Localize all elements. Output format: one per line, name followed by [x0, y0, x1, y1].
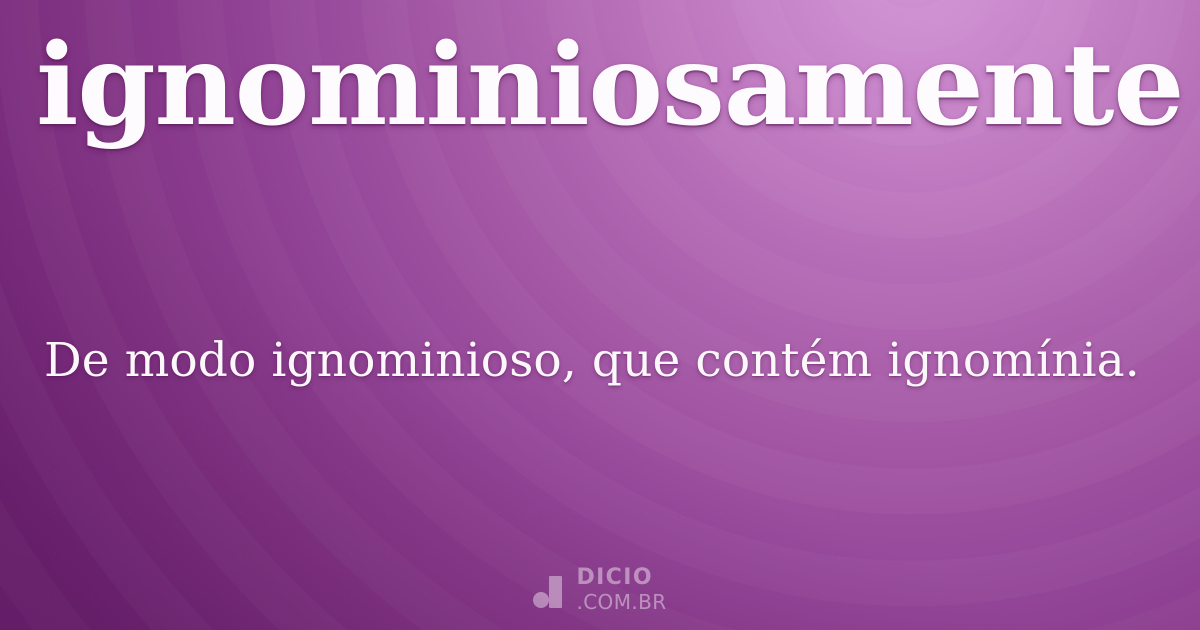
dicio-logo: DICIO .COM.BR: [0, 567, 1200, 612]
card-content: ignominiosamente De modo ignominioso, qu…: [0, 0, 1200, 630]
dicio-logo-text: DICIO .COM.BR: [576, 567, 666, 612]
word-share-card: ignominiosamente De modo ignominioso, qu…: [0, 0, 1200, 630]
logo-domain-suffix: .COM.BR: [576, 592, 666, 612]
dicio-logo-mark: [533, 571, 565, 609]
logo-brand-name: DICIO: [576, 567, 666, 589]
definition-text: De modo ignominioso, que contém ignomíni…: [44, 330, 1156, 391]
headword-title: ignominiosamente: [36, 18, 1164, 155]
bar-mark-icon: [549, 576, 562, 608]
circle-mark-icon: [533, 592, 549, 608]
